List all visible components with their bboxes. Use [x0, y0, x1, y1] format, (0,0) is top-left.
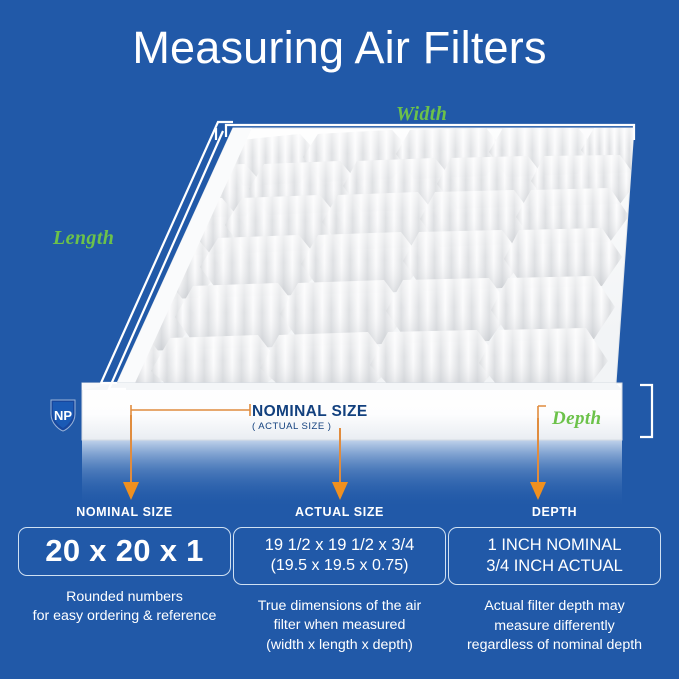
width-label: Width [396, 103, 447, 126]
value-line: 20 x 20 x 1 [45, 535, 203, 568]
column-heading: ACTUAL SIZE [233, 505, 446, 519]
column-description: Actual filter depth maymeasure different… [448, 597, 661, 656]
page-title: Measuring Air Filters [0, 22, 679, 74]
np-shield-logo: NP [51, 400, 75, 431]
value-line: 1 INCH NOMINAL [488, 535, 622, 556]
svg-text:NP: NP [54, 408, 72, 423]
value-line: 19 1/2 x 19 1/2 x 3/4 [265, 535, 415, 556]
column-description: Rounded numbersfor easy ordering & refer… [18, 588, 231, 627]
band-actual-size-sublabel: ( ACTUAL SIZE ) [252, 421, 331, 432]
value-box[interactable]: 1 INCH NOMINAL 3/4 INCH ACTUAL [448, 527, 661, 585]
column-actual-size: ACTUAL SIZE 19 1/2 x 19 1/2 x 3/4 (19.5 … [233, 505, 446, 656]
value-box[interactable]: 20 x 20 x 1 [18, 527, 231, 576]
value-box[interactable]: 19 1/2 x 19 1/2 x 3/4 (19.5 x 19.5 x 0.7… [233, 527, 446, 585]
value-line-secondary: 3/4 INCH ACTUAL [486, 556, 623, 577]
column-depth: DEPTH 1 INCH NOMINAL 3/4 INCH ACTUAL Act… [448, 505, 661, 656]
filter-bevel [82, 383, 622, 390]
infographic-root: NP Measuring Air Filters Width Length De… [0, 0, 679, 679]
filter-reflection [82, 440, 622, 508]
info-columns: NOMINAL SIZE 20 x 20 x 1 Rounded numbers… [0, 505, 679, 656]
length-label: Length [53, 227, 114, 250]
depth-label: Depth [552, 408, 602, 430]
depth-bracket [640, 385, 652, 437]
column-heading: DEPTH [448, 505, 661, 519]
column-heading: NOMINAL SIZE [18, 505, 231, 519]
value-line-secondary: (19.5 x 19.5 x 0.75) [271, 556, 409, 576]
band-nominal-size-label: NOMINAL SIZE [252, 403, 368, 421]
column-nominal-size: NOMINAL SIZE 20 x 20 x 1 Rounded numbers… [18, 505, 231, 656]
column-description: True dimensions of the airfilter when me… [233, 597, 446, 656]
